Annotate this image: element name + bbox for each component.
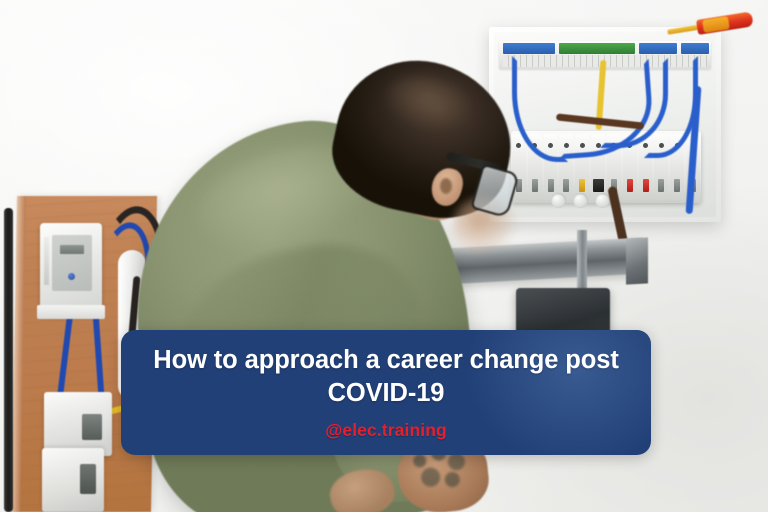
screenshot-stage: How to approach a career change post COV…: [0, 0, 768, 512]
banner-title: How to approach a career change post COV…: [121, 344, 651, 408]
title-banner: How to approach a career change post COV…: [121, 330, 651, 455]
ear-inner-shadow: [440, 178, 452, 194]
banner-handle: @elec.training: [325, 420, 447, 441]
